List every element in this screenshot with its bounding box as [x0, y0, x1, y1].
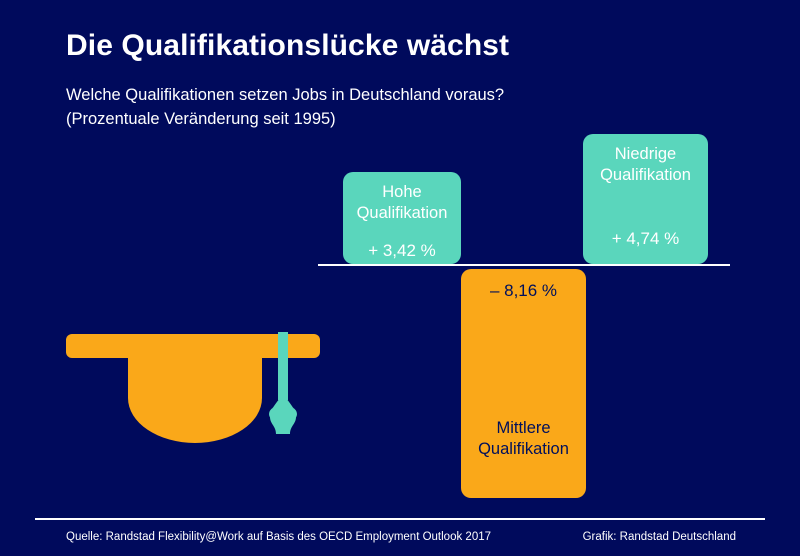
- subtitle: Welche Qualifikationen setzen Jobs in De…: [66, 83, 504, 131]
- tassel-bulb-shape: [269, 405, 297, 423]
- bar-niedrige-qualifikation: Niedrige Qualifikation + 4,74 %: [583, 134, 708, 264]
- bar-value: + 3,42 %: [368, 240, 436, 261]
- bar-label-line-1: Mittlere: [496, 419, 550, 437]
- bar-label-line-2: Qualifikation: [357, 204, 448, 222]
- bar-label-line-2: Qualifikation: [478, 440, 569, 458]
- cap-body-shape: [128, 356, 262, 443]
- bar-label-line-1: Niedrige: [615, 145, 676, 163]
- subtitle-line-1: Welche Qualifikationen setzen Jobs in De…: [66, 86, 504, 104]
- bar-label-line-2: Qualifikation: [600, 166, 691, 184]
- subtitle-line-2: (Prozentuale Veränderung seit 1995): [66, 107, 504, 131]
- bar-label: Mittlere Qualifikation: [478, 418, 569, 460]
- bar-label-line-1: Hohe: [382, 183, 421, 201]
- footer-source: Quelle: Randstad Flexibility@Work auf Ba…: [66, 530, 491, 545]
- bar-value: – 8,16 %: [490, 280, 557, 301]
- zero-baseline: [318, 264, 730, 266]
- footer-divider: [35, 518, 765, 520]
- footer-credit: Grafik: Randstad Deutschland: [583, 530, 736, 545]
- bar-mittlere-qualifikation: – 8,16 % Mittlere Qualifikation: [461, 269, 586, 498]
- bar-value: + 4,74 %: [612, 228, 680, 249]
- bar-hohe-qualifikation: Hohe Qualifikation + 3,42 %: [343, 172, 461, 264]
- graduation-cap-icon: [60, 328, 330, 458]
- bar-label: Hohe Qualifikation: [357, 182, 448, 224]
- bar-label: Niedrige Qualifikation: [600, 144, 691, 186]
- tassel-cord-shape: [278, 332, 288, 400]
- infographic-canvas: Die Qualifikationslücke wächst Welche Qu…: [0, 0, 800, 556]
- page-title: Die Qualifikationslücke wächst: [66, 26, 509, 66]
